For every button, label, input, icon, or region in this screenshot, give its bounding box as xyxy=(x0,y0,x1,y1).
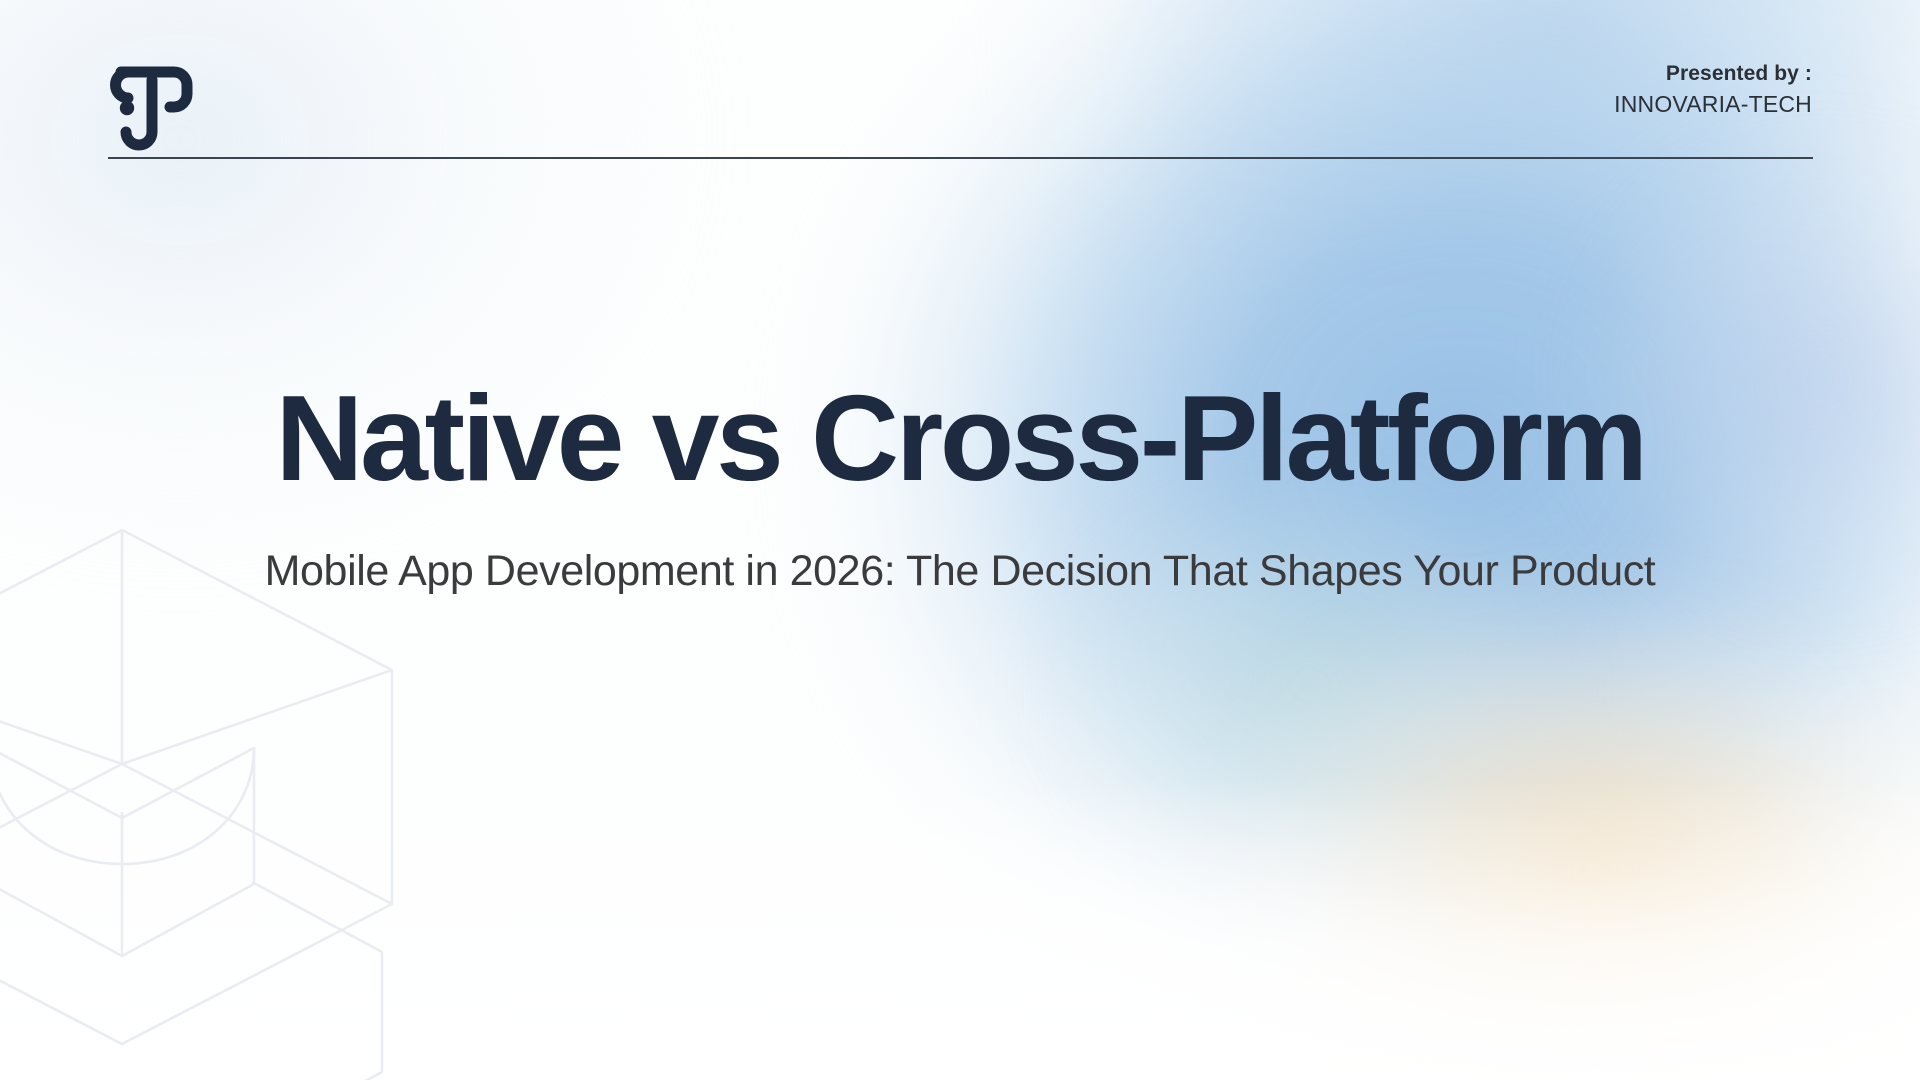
background-bottom-fade xyxy=(0,780,1920,1080)
slide-subtitle: Mobile App Development in 2026: The Deci… xyxy=(240,544,1680,598)
slide-header: Presented by : INNOVARIA-TECH xyxy=(108,54,1812,166)
presenter-name: INNOVARIA-TECH xyxy=(1614,91,1812,118)
presented-by-label: Presented by : xyxy=(1614,62,1812,87)
header-divider xyxy=(108,157,1813,159)
background-blob-peach xyxy=(1180,560,1920,1080)
slide-body: Native vs Cross-Platform Mobile App Deve… xyxy=(0,376,1920,599)
slide-title: Native vs Cross-Platform xyxy=(0,376,1920,500)
presentation-slide: Presented by : INNOVARIA-TECH Native vs … xyxy=(0,0,1920,1080)
presenter-credit: Presented by : INNOVARIA-TECH xyxy=(1614,62,1812,118)
innovaria-t-logo-icon xyxy=(108,64,196,156)
